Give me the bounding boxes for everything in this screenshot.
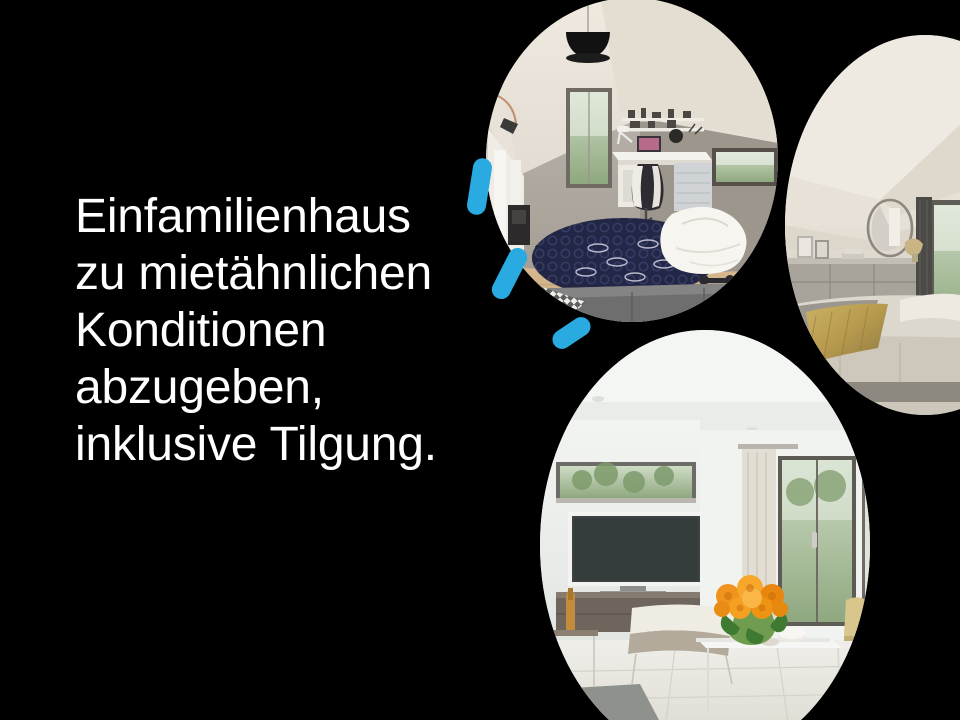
living-room-photo <box>538 328 906 720</box>
attic-living-room-photo <box>486 0 778 325</box>
headline-text: Einfamilienhaus zu mietähnlichen Konditi… <box>75 188 475 473</box>
slide-canvas: Einfamilienhaus zu mietähnlichen Konditi… <box>0 0 960 720</box>
bedroom-photo <box>784 30 960 422</box>
